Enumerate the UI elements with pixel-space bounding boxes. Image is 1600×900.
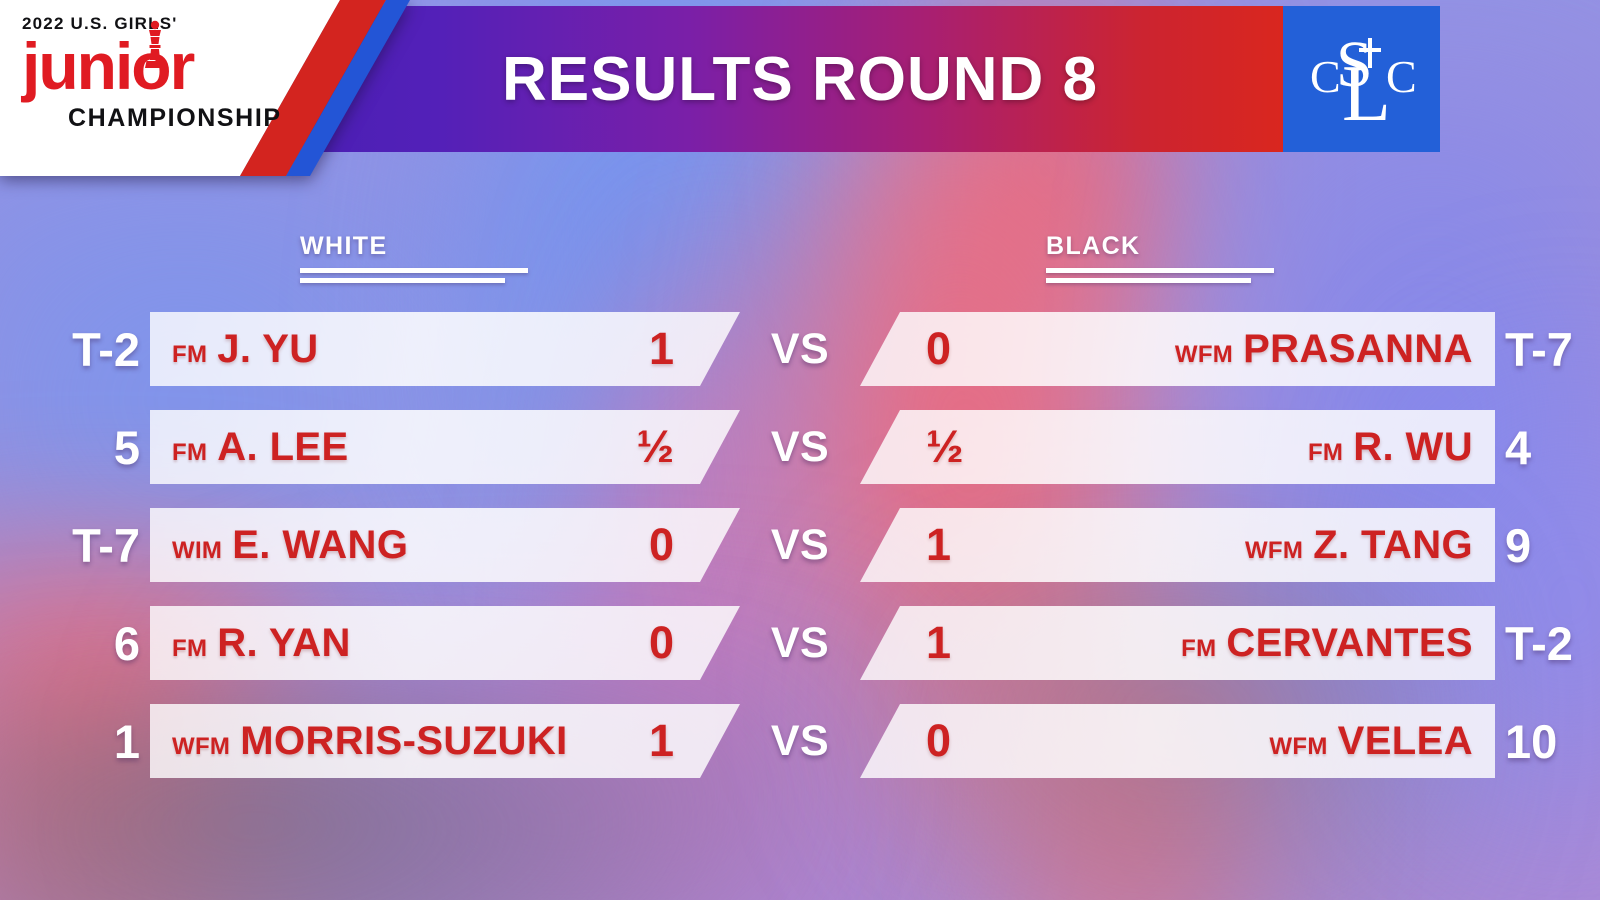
versus-label: VS <box>740 521 860 570</box>
column-header-white: WHITE <box>300 232 528 283</box>
black-player-title: WFM <box>1269 733 1327 761</box>
match-black-side: 1 WFM Z. TANG 9 <box>860 496 1600 594</box>
white-player-identity: WIM E. WANG <box>172 523 408 568</box>
white-player-title: FM <box>172 635 207 663</box>
match-white-side: T-2 FM J. YU 1 <box>0 300 740 398</box>
club-logo-badge: C C S L <box>1283 6 1440 152</box>
white-player-identity: FM R. YAN <box>172 621 351 666</box>
black-player-bar[interactable]: 0 WFM VELEA <box>860 704 1495 778</box>
match-row: 5 FM A. LEE ½ VS ½ FM R. WU <box>0 398 1600 496</box>
black-score: 1 <box>926 617 951 669</box>
white-player-bar[interactable]: WFM MORRIS-SUZUKI 1 <box>150 704 740 778</box>
white-score: ½ <box>636 421 674 473</box>
column-header-black-label: BLACK <box>1046 232 1274 261</box>
black-player-title: WFM <box>1175 341 1233 369</box>
white-player-title: WFM <box>172 733 230 761</box>
black-rank: T-7 <box>1495 322 1600 377</box>
white-player-title: FM <box>172 439 207 467</box>
event-logo-line-3: CHAMPIONSHIP <box>68 104 302 133</box>
black-score: 1 <box>926 519 951 571</box>
chess-queen-icon <box>140 20 170 72</box>
match-black-side: 1 FM CERVANTES T-2 <box>860 594 1600 692</box>
match-row: 1 WFM MORRIS-SUZUKI 1 VS 0 WFM VELEA <box>0 692 1600 790</box>
black-player-title: FM <box>1308 439 1343 467</box>
black-player-name: R. WU <box>1353 425 1473 470</box>
white-player-name: A. LEE <box>217 425 348 470</box>
white-player-identity: FM A. LEE <box>172 425 349 470</box>
white-player-bar[interactable]: FM A. LEE ½ <box>150 410 740 484</box>
black-rank: 4 <box>1495 420 1600 475</box>
white-player-bar[interactable]: WIM E. WANG 0 <box>150 508 740 582</box>
match-black-side: 0 WFM PRASANNA T-7 <box>860 300 1600 398</box>
match-white-side: 6 FM R. YAN 0 <box>0 594 740 692</box>
black-player-identity: WFM PRASANNA <box>1175 327 1473 372</box>
column-header-black-rule-bottom <box>1046 278 1251 283</box>
match-row: 6 FM R. YAN 0 VS 1 FM CERVANTES <box>0 594 1600 692</box>
white-score: 0 <box>649 519 674 571</box>
black-player-identity: FM R. WU <box>1308 425 1473 470</box>
match-white-side: T-7 WIM E. WANG 0 <box>0 496 740 594</box>
white-player-name: MORRIS-SUZUKI <box>240 719 567 764</box>
match-black-side: 0 WFM VELEA 10 <box>860 692 1600 790</box>
page-title: RESULTS ROUND 8 <box>300 6 1440 152</box>
black-score: 0 <box>926 323 951 375</box>
column-header-white-label: WHITE <box>300 232 528 261</box>
results-list: T-2 FM J. YU 1 VS 0 WFM PRASANNA <box>0 300 1600 790</box>
white-player-title: FM <box>172 341 207 369</box>
event-logo: 2022 U.S. GIRLS' junior CHAMPIONSHIP <box>0 0 410 176</box>
black-player-bar[interactable]: 1 WFM Z. TANG <box>860 508 1495 582</box>
black-score: ½ <box>926 421 964 473</box>
white-player-name: R. YAN <box>217 621 351 666</box>
black-player-identity: WFM Z. TANG <box>1245 523 1473 568</box>
svg-text:L: L <box>1342 50 1391 134</box>
match-white-side: 5 FM A. LEE ½ <box>0 398 740 496</box>
black-rank: 10 <box>1495 714 1600 769</box>
black-player-bar[interactable]: 1 FM CERVANTES <box>860 606 1495 680</box>
black-player-title: WFM <box>1245 537 1303 565</box>
saint-louis-chess-club-logo: C C S L <box>1302 24 1422 134</box>
white-player-name: J. YU <box>217 327 318 372</box>
white-player-bar[interactable]: FM J. YU 1 <box>150 312 740 386</box>
white-player-title: WIM <box>172 537 222 565</box>
white-player-bar[interactable]: FM R. YAN 0 <box>150 606 740 680</box>
white-score: 1 <box>649 323 674 375</box>
versus-label: VS <box>740 717 860 766</box>
white-rank: T-2 <box>45 322 150 377</box>
white-score: 0 <box>649 617 674 669</box>
versus-label: VS <box>740 325 860 374</box>
versus-label: VS <box>740 619 860 668</box>
white-player-identity: FM J. YU <box>172 327 319 372</box>
black-player-identity: FM CERVANTES <box>1181 621 1473 666</box>
match-row: T-7 WIM E. WANG 0 VS 1 WFM Z. TANG <box>0 496 1600 594</box>
column-header-white-rule-top <box>300 268 528 273</box>
white-rank: T-7 <box>45 518 150 573</box>
white-player-identity: WFM MORRIS-SUZUKI <box>172 719 568 764</box>
black-player-title: FM <box>1181 635 1216 663</box>
white-player-name: E. WANG <box>232 523 408 568</box>
black-rank: T-2 <box>1495 616 1600 671</box>
black-score: 0 <box>926 715 951 767</box>
column-header-white-rule-bottom <box>300 278 505 283</box>
column-header-black: BLACK <box>1046 232 1274 283</box>
black-player-name: PRASANNA <box>1243 327 1473 372</box>
match-row: T-2 FM J. YU 1 VS 0 WFM PRASANNA <box>0 300 1600 398</box>
black-player-bar[interactable]: 0 WFM PRASANNA <box>860 312 1495 386</box>
black-player-name: VELEA <box>1338 719 1473 764</box>
black-rank: 9 <box>1495 518 1600 573</box>
white-score: 1 <box>649 715 674 767</box>
white-rank: 5 <box>45 420 150 475</box>
white-rank: 6 <box>45 616 150 671</box>
match-black-side: ½ FM R. WU 4 <box>860 398 1600 496</box>
column-header-black-rule-top <box>1046 268 1274 273</box>
white-rank: 1 <box>45 714 150 769</box>
black-player-name: Z. TANG <box>1313 523 1473 568</box>
black-player-bar[interactable]: ½ FM R. WU <box>860 410 1495 484</box>
black-player-identity: WFM VELEA <box>1269 719 1473 764</box>
black-player-name: CERVANTES <box>1226 621 1473 666</box>
versus-label: VS <box>740 423 860 472</box>
match-white-side: 1 WFM MORRIS-SUZUKI 1 <box>0 692 740 790</box>
